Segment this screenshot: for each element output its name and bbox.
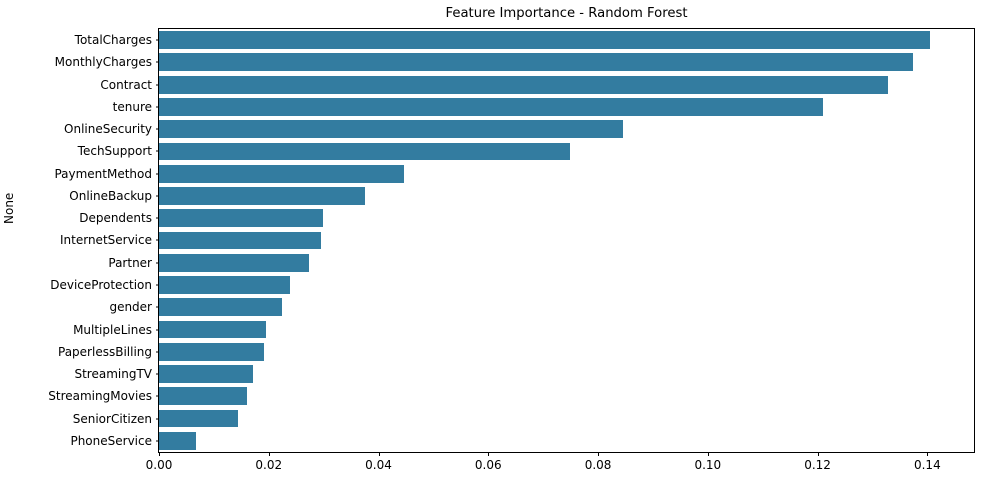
y-tick-label: InternetService (60, 233, 152, 247)
x-tick-label: 0.00 (146, 458, 173, 472)
bar-row: PhoneService (159, 432, 974, 450)
bar[interactable] (159, 410, 238, 428)
bar-row: PaymentMethod (159, 165, 974, 183)
y-tick-label: StreamingTV (74, 367, 152, 381)
y-tick-label: TechSupport (78, 144, 152, 158)
bar-row: Dependents (159, 209, 974, 227)
y-tick-mark (156, 240, 160, 241)
y-tick-label: SeniorCitizen (73, 412, 152, 426)
y-tick-label: PhoneService (70, 434, 152, 448)
bar[interactable] (159, 321, 266, 339)
bar[interactable] (159, 298, 282, 316)
bar-row: TotalCharges (159, 31, 974, 49)
bar-row: InternetService (159, 232, 974, 250)
bar-row: gender (159, 298, 974, 316)
bar-row: Contract (159, 76, 974, 94)
bar[interactable] (159, 432, 196, 450)
bar-series: TotalChargesMonthlyChargesContracttenure… (159, 29, 974, 452)
y-tick-mark (156, 129, 160, 130)
page-title: Feature Importance - Random Forest (158, 6, 975, 22)
y-tick-label: MonthlyCharges (55, 55, 152, 69)
x-tick-mark (379, 452, 380, 456)
y-tick-label: Contract (100, 78, 152, 92)
bar[interactable] (159, 232, 321, 250)
bar-row: SeniorCitizen (159, 410, 974, 428)
x-tick-mark (488, 452, 489, 456)
y-tick-mark (156, 195, 160, 196)
y-tick-mark (156, 351, 160, 352)
y-tick-label: DeviceProtection (50, 278, 152, 292)
y-tick-label: PaperlessBilling (58, 345, 152, 359)
x-tick-mark (927, 452, 928, 456)
bar[interactable] (159, 76, 888, 94)
y-tick-mark (156, 374, 160, 375)
bar[interactable] (159, 276, 290, 294)
bar[interactable] (159, 53, 913, 71)
y-tick-label: StreamingMovies (48, 389, 152, 403)
x-tick-label: 0.04 (365, 458, 392, 472)
bar[interactable] (159, 187, 365, 205)
y-tick-label: MultipleLines (73, 323, 152, 337)
bar-row: PaperlessBilling (159, 343, 974, 361)
y-tick-mark (156, 40, 160, 41)
y-tick-label: Partner (108, 256, 152, 270)
y-tick-mark (156, 307, 160, 308)
y-tick-mark (156, 84, 160, 85)
bar-row: tenure (159, 98, 974, 116)
x-tick-label: 0.12 (804, 458, 831, 472)
y-tick-label: OnlineBackup (69, 189, 152, 203)
x-tick-mark (598, 452, 599, 456)
bar[interactable] (159, 31, 930, 49)
bar-row: Partner (159, 254, 974, 272)
bar[interactable] (159, 209, 323, 227)
y-tick-mark (156, 418, 160, 419)
bar-row: DeviceProtection (159, 276, 974, 294)
bar-row: StreamingTV (159, 365, 974, 383)
y-tick-label: OnlineSecurity (64, 122, 152, 136)
bar[interactable] (159, 165, 404, 183)
y-tick-mark (156, 173, 160, 174)
bar-row: TechSupport (159, 143, 974, 161)
x-tick-label: 0.06 (475, 458, 502, 472)
y-tick-mark (156, 396, 160, 397)
matplotlib-figure: Feature Importance - Random Forest None … (0, 0, 989, 490)
x-tick-mark (818, 452, 819, 456)
bar-row: MultipleLines (159, 321, 974, 339)
y-tick-mark (156, 285, 160, 286)
x-tick-label: 0.08 (585, 458, 612, 472)
y-tick-mark (156, 329, 160, 330)
bar[interactable] (159, 365, 253, 383)
y-tick-label: gender (109, 300, 152, 314)
y-tick-mark (156, 62, 160, 63)
y-tick-label: TotalCharges (75, 33, 152, 47)
x-tick-label: 0.02 (255, 458, 282, 472)
y-tick-mark (156, 262, 160, 263)
bar-row: OnlineSecurity (159, 120, 974, 138)
plot-area: TotalChargesMonthlyChargesContracttenure… (158, 28, 975, 453)
y-axis-label: None (2, 193, 16, 224)
bar-row: MonthlyCharges (159, 53, 974, 71)
x-tick-mark (159, 452, 160, 456)
x-tick-label: 0.14 (914, 458, 941, 472)
bar[interactable] (159, 98, 823, 116)
bar[interactable] (159, 143, 570, 161)
y-tick-mark (156, 218, 160, 219)
bar[interactable] (159, 120, 623, 138)
bar[interactable] (159, 254, 309, 272)
y-tick-label: tenure (113, 100, 152, 114)
bar[interactable] (159, 387, 247, 405)
y-tick-label: PaymentMethod (54, 167, 152, 181)
x-tick-mark (708, 452, 709, 456)
x-tick-label: 0.10 (694, 458, 721, 472)
bar[interactable] (159, 343, 264, 361)
bar-row: StreamingMovies (159, 387, 974, 405)
bar-row: OnlineBackup (159, 187, 974, 205)
y-tick-mark (156, 106, 160, 107)
x-tick-mark (269, 452, 270, 456)
y-tick-mark (156, 151, 160, 152)
y-tick-label: Dependents (79, 211, 152, 225)
y-tick-mark (156, 440, 160, 441)
